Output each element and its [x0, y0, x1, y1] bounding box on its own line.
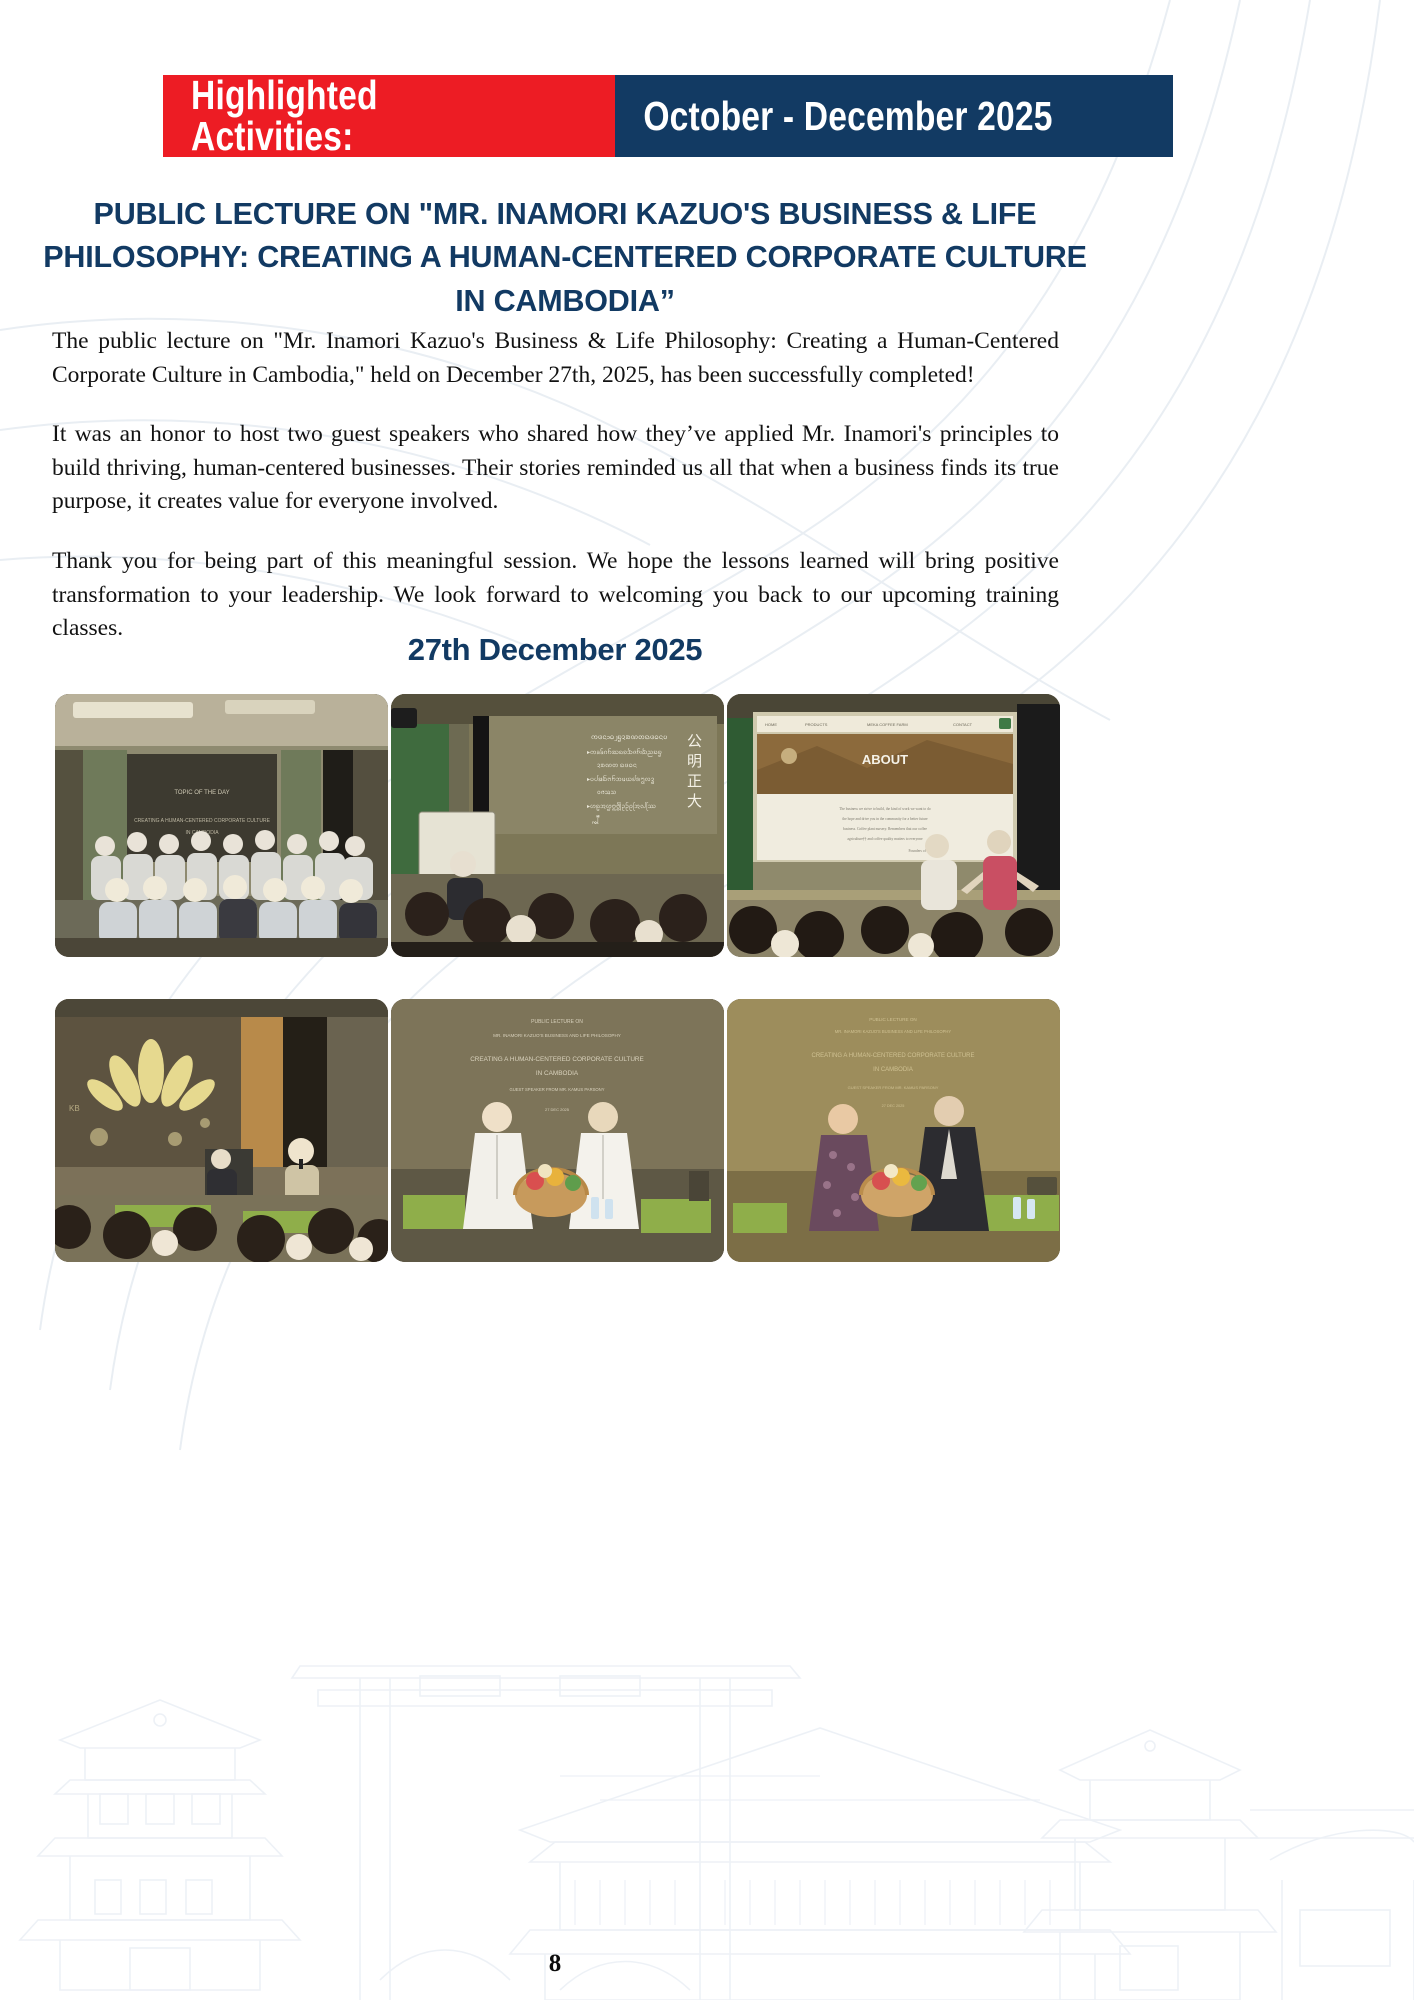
event-date-heading: 27th December 2025 [0, 632, 1110, 668]
svg-text:▸ᨠᨡᨢᨣᨤᨥᨦᨧᨨᨩᨪᨫᨬᨭᨮ: ▸ᨠᨡᨢᨣᨤᨥᨦᨧᨨᨩᨪᨫᨬᨭᨮ [587, 748, 662, 757]
gallery-photo-about-slide: HOMEPRODUCTSMEKA COFFEE FARMCONTACT ABOU… [727, 694, 1060, 957]
gift-handover-2-image: PUBLIC LECTURE ON MR. INAMORI KAZUO'S BU… [727, 999, 1060, 1262]
about-slide-image: HOMEPRODUCTSMEKA COFFEE FARMCONTACT ABOU… [727, 694, 1060, 957]
banner-navy-block: October - December 2025 [615, 75, 1173, 157]
gallery-photo-khmer-slide: ᨠᨴᨶ᧑ᨵ᧒ᨮᨯᨰᨱᨲᨳᨴᨵᨶᨷ ▸ᨠᨡᨢᨣᨤᨥᨦᨧᨨᨩᨪᨫᨬᨭᨮ ᨯᨰᨱᨲ ᨳ… [391, 694, 724, 957]
svg-text:27 DEC 2025: 27 DEC 2025 [545, 1107, 570, 1112]
svg-text:CREATING A HUMAN-CENTERED CORP: CREATING A HUMAN-CENTERED CORPORATE CULT… [811, 1053, 974, 1059]
group-portrait-image: TOPIC OF THE DAY CREATING A HUMAN-CENTER… [55, 694, 388, 957]
svg-text:ᨯᨰᨱᨲ ᨳᨴᨵᨶ: ᨯᨰᨱᨲ ᨳᨴᨵᨶ [597, 763, 637, 769]
svg-text:MR. INAMORI KAZUO'S BUSINESS A: MR. INAMORI KAZUO'S BUSINESS AND LIFE PH… [835, 1029, 952, 1034]
svg-text:GUEST SPEAKER FROM MR. KAMUS P: GUEST SPEAKER FROM MR. KAMUS PARSONY [509, 1087, 604, 1092]
svg-text:CONTACT: CONTACT [953, 722, 973, 727]
lotus-slide-image: KB [55, 999, 388, 1262]
banner-red-block: Highlighted Activities: [163, 75, 615, 157]
svg-text:PRODUCTS: PRODUCTS [805, 722, 828, 727]
article-paragraph-1: The public lecture on "Mr. Inamori Kazuo… [52, 325, 1059, 392]
article-title: PUBLIC LECTURE ON "MR. INAMORI KAZUO'S B… [30, 193, 1100, 323]
gift-handover-1-image: PUBLIC LECTURE ON MR. INAMORI KAZUO'S BU… [391, 999, 724, 1262]
svg-text:ABOUT: ABOUT [862, 752, 908, 767]
svg-text:▸ᨷᨸᨹᨺᨻᨼᨽᨾᨿᩀᩁᩂᩃᩄ: ▸ᨷᨸᨹᨺᨻᨼᨽᨾᨿᩀᩁᩂᩃᩄ [587, 775, 655, 784]
svg-text:IN CAMBODIA: IN CAMBODIA [536, 1070, 579, 1077]
svg-text:the hope and drive you in the: the hope and drive you in the community … [842, 817, 928, 821]
svg-text:TOPIC OF THE DAY: TOPIC OF THE DAY [174, 790, 229, 796]
svg-text:KB: KB [69, 1104, 80, 1113]
khmer-slide-image: ᨠᨴᨶ᧑ᨵ᧒ᨮᨯᨰᨱᨲᨳᨴᨵᨶᨷ ▸ᨠᨡᨢᨣᨤᨥᨦᨧᨨᨩᨪᨫᨬᨭᨮ ᨯᨰᨱᨲ ᨳ… [391, 694, 724, 957]
svg-text:IN CAMBODIA: IN CAMBODIA [873, 1067, 913, 1073]
highlighted-activities-banner: Highlighted Activities: October - Decemb… [163, 75, 1173, 157]
page-number: 8 [0, 1950, 1110, 1978]
svg-text:明: 明 [687, 753, 702, 770]
svg-text:GUEST SPEAKER FROM MR. KAMUS P: GUEST SPEAKER FROM MR. KAMUS PARSONY [848, 1085, 939, 1090]
svg-text:PUBLIC LECTURE ON: PUBLIC LECTURE ON [869, 1017, 916, 1022]
gallery-photo-group-portrait: TOPIC OF THE DAY CREATING A HUMAN-CENTER… [55, 694, 388, 957]
svg-text:business. Coffee plant nursery: business. Coffee plant nursery. Remember… [843, 827, 927, 831]
gallery-photo-gift-handover-2: PUBLIC LECTURE ON MR. INAMORI KAZUO'S BU… [727, 999, 1060, 1262]
gallery-photo-lotus-slide: KB [55, 999, 388, 1262]
svg-text:27 DEC 2025: 27 DEC 2025 [882, 1104, 905, 1108]
svg-text:公: 公 [687, 734, 702, 750]
svg-text:ᩅᩆᩇᩈ: ᩅᩆᩇᩈ [597, 790, 616, 796]
svg-text:MEKA COFFEE FARM: MEKA COFFEE FARM [867, 722, 908, 727]
banner-right-label: October - December 2025 [643, 96, 1053, 137]
temple-watermark [0, 1580, 1414, 2000]
article-paragraph-3: Thank you for being part of this meaning… [52, 545, 1059, 646]
banner-left-label: Highlighted Activities: [191, 75, 517, 157]
svg-text:CREATING A HUMAN-CENTERED CORP: CREATING A HUMAN-CENTERED CORPORATE CULT… [470, 1056, 644, 1063]
svg-text:正: 正 [687, 774, 702, 790]
svg-text:HOME: HOME [765, 722, 777, 727]
svg-text:PUBLIC LECTURE ON: PUBLIC LECTURE ON [531, 1019, 583, 1025]
article-body: The public lecture on "Mr. Inamori Kazuo… [52, 325, 1059, 646]
gallery-photo-gift-handover-1: PUBLIC LECTURE ON MR. INAMORI KAZUO'S BU… [391, 999, 724, 1262]
svg-text:ᨠᨴᨶ᧑ᨵ᧒ᨮᨯᨰᨱᨲᨳᨴᨵᨶᨷ: ᨠᨴᨶ᧑ᨵ᧒ᨮᨯᨰᨱᨲᨳᨴᨵᨶᨷ [591, 734, 667, 742]
photo-gallery: TOPIC OF THE DAY CREATING A HUMAN-CENTER… [55, 694, 1060, 1262]
svg-text:▸ᩉᩊᩋᩌᩍᩎᩏᩐᩑᩒᩓᩔᩕ: ▸ᩉᩊᩋᩌᩍᩎᩏᩐᩑᩒᩓᩔᩕ [587, 802, 656, 811]
svg-text:agriculture什 and coffee qualit: agriculture什 and coffee quality matters … [847, 836, 923, 841]
article-title-line-2: CREATING A HUMAN-CENTERED CORPORATE CULT… [257, 240, 1087, 317]
svg-text:MR. INAMORI KAZUO'S BUSINESS A: MR. INAMORI KAZUO'S BUSINESS AND LIFE PH… [493, 1033, 621, 1038]
article-paragraph-2: It was an honor to host two guest speake… [52, 418, 1059, 519]
svg-text:大: 大 [687, 793, 702, 810]
svg-text:CREATING A HUMAN-CENTERED CORP: CREATING A HUMAN-CENTERED CORPORATE CULT… [134, 818, 271, 824]
